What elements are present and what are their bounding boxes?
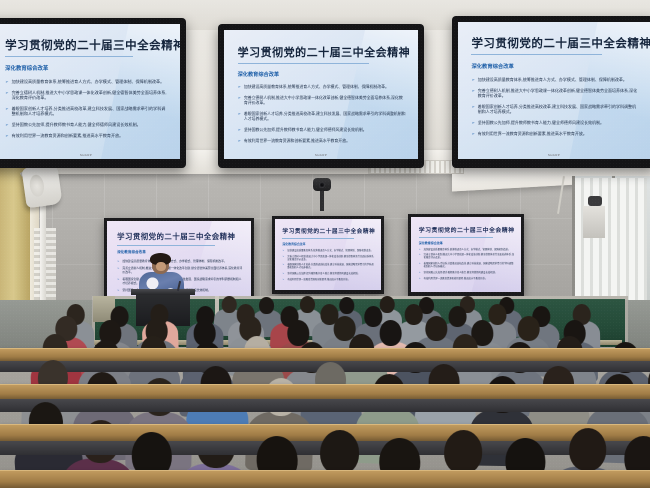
camera-mast [320, 191, 324, 211]
slide-bullet: ➢着眼国家创新人才培养,分类推进高校改革,建立科技发展、国家战略需求牵引的学科调… [5, 106, 169, 116]
slide-subtitle: 深化教育综合改革 [282, 242, 374, 246]
bullet-marker-icon: ➢ [471, 120, 474, 125]
slide-bullet: ➢着眼国家创新人才培养,分类推进高校改革,建立科技发展、国家战略需求牵引的学科调… [238, 111, 407, 121]
slide-title-rule [282, 238, 354, 239]
slide-content: 学习贯彻党的二十届三中全会精神 深化教育综合改革 ➢加快建设高质量教育体系,统筹… [0, 24, 180, 159]
bullet-marker-icon: ➢ [282, 279, 284, 282]
audience-member-head [568, 427, 607, 472]
podium-top [131, 289, 195, 295]
slide-bullet-list: ➢加快建设高质量教育体系,统筹推进育人方式、办学模式、管理体制、保障机制改革。 … [5, 79, 169, 139]
slide-bullet-text: 有效利用世界一流教育资源和创新要素,推进高水平教育开放。 [424, 278, 488, 281]
slide-bullet: ➢完善立德树人机制,推进大中小学思政课一体化改革创新,健全德智体美劳全面培养体系… [419, 254, 515, 260]
bullet-marker-icon: ➢ [471, 104, 474, 114]
bullet-marker-icon: ➢ [5, 90, 8, 100]
slide-bullet-text: 着眼国家创新人才培养,分类推进高校改革,建立科技发展、国家战略需求牵引的学科调整… [478, 104, 639, 114]
slide-bullet: ➢完善立德树人机制,推进大中小学思政课一体化改革创新,健全德智体美劳全面培养体系… [117, 267, 242, 274]
wall-display-left-panel: 学习贯彻党的二十届三中全会精神 深化教育综合改革 ➢加快建设高质量教育体系,统筹… [0, 24, 180, 159]
projection-screen-right-surface: 学习贯彻党的二十届三中全会精神 深化教育综合改革 ➢加快建设高质量教育体系,统筹… [411, 217, 521, 292]
bullet-marker-icon: ➢ [419, 272, 421, 275]
slide-content: 学习贯彻党的二十届三中全会精神 深化教育综合改革 ➢加快建设高质量教育体系,统筹… [275, 219, 381, 290]
slide-bullet: ➢着眼国家创新人才培养,分类推进高校改革,建立科技发展、国家战略需求牵引的学科调… [419, 263, 515, 269]
slide-bullet: ➢坚持国教公先加师,提升教师教书育人能力,健全师德师风建设长效机制。 [282, 273, 374, 276]
bullet-marker-icon: ➢ [5, 79, 8, 84]
slide-bullet: ➢有效利用世界一流教育资源和创新要素,推进高水平教育开放。 [282, 279, 374, 282]
presenter-face [156, 262, 166, 271]
slide-bullet-text: 着眼国家创新人才培养,分类推进高校改革,建立科技发展、国家战略需求牵引的学科调整… [244, 111, 407, 121]
lecture-desk-row [0, 384, 650, 400]
slide-bullet: ➢有效利用世界一流教育资源和创新要素,推进高水平教育开放。 [471, 131, 638, 136]
slide-bullet: ➢坚持国教公先加师,提升教师教书育人能力,健全师德师风建设长效机制。 [419, 272, 515, 275]
slide-bullet-text: 着眼国家创新人才培养,分类推进高校改革,建立科技发展、国家战略需求牵引的学科调整… [424, 263, 515, 269]
bullet-marker-icon: ➢ [282, 273, 284, 276]
desk-front-panel [0, 399, 650, 412]
slide-title-rule [238, 63, 370, 64]
slide-bullet-text: 加快建设高质量教育体系,统筹推进育人方式、办学模式、管理体制、保障机制改革。 [287, 250, 373, 253]
slide-bullet-text: 坚持国教公先加师,提升教师教书育人能力,健全师德师风建设长效机制。 [424, 272, 497, 275]
slide-bullet-text: 完善立德树人机制,推进大中小学思政课一体化改革创新,健全德智体美劳全面培养体系,… [478, 88, 639, 98]
lecture-desk-row [0, 348, 650, 362]
speaker-cone-icon [28, 174, 45, 198]
bullet-marker-icon: ➢ [117, 278, 119, 285]
bullet-marker-icon: ➢ [471, 77, 474, 82]
slide-bullet-text: 完善立德树人机制,推进大中小学思政课一体化改革创新,健全德智体美劳全面培养体系,… [244, 95, 407, 105]
slide-bullet-text: 加快建设高质量教育体系,统筹推进育人方式、办学模式、管理体制、保障机制改革。 [244, 84, 389, 89]
slide-subtitle: 深化教育综合改革 [471, 62, 638, 70]
slide-bullet-text: 有效利用世界一流教育资源和创新要素,推进高水平教育开放。 [287, 279, 350, 282]
slide-bullet: ➢坚持国教公先加师,提升教师教书育人能力,健全师德师风建设长效机制。 [471, 120, 638, 125]
slide-bullet-text: 完善立德树人机制,推进大中小学思政课一体化改革创新,健全德智体美劳全面培养体系,… [122, 267, 242, 274]
slide-bullet: ➢加快建设高质量教育体系,统筹推进育人方式、办学模式、管理体制、保障机制改革。 [117, 260, 242, 264]
slide-bullet-list: ➢加快建设高质量教育体系,统筹推进育人方式、办学模式、管理体制、保障机制改革。 … [282, 250, 374, 282]
projection-screen-center[interactable]: 学习贯彻党的二十届三中全会精神 深化教育综合改革 ➢加快建设高质量教育体系,统筹… [272, 216, 384, 294]
slide-bullet-text: 加快建设高质量教育体系,统筹推进育人方式、办学模式、管理体制、保障机制改革。 [12, 79, 165, 84]
wall-display-right-panel: 学习贯彻党的二十届三中全会精神 深化教育综合改革 ➢加快建设高质量教育体系,统筹… [458, 22, 650, 159]
wall-display-left[interactable]: 学习贯彻党的二十届三中全会精神 深化教育综合改革 ➢加快建设高质量教育体系,统筹… [0, 18, 186, 168]
bullet-marker-icon: ➢ [5, 122, 8, 127]
slide-title: 学习贯彻党的二十届三中全会精神 [419, 225, 515, 234]
display-brand-label: SHARP [548, 153, 560, 157]
slide-bullet-text: 完善立德树人机制,推进大中小学思政课一体化改革创新,健全德智体美劳全面培养体系,… [424, 254, 515, 260]
slide-bullet: ➢完善立德树人机制,推进大中小学思政课一体化改革创新,健全德智体美劳全面培养体系… [282, 256, 374, 262]
slide-bullet: ➢着眼国家创新人才培养,分类推进高校改革,建立科技发展、国家战略需求牵引的学科调… [282, 264, 374, 270]
side-camera-housing [583, 206, 605, 238]
bullet-marker-icon: ➢ [117, 267, 119, 274]
slide-title-rule [419, 237, 494, 238]
slide-bullet: ➢加快建设高质量教育体系,统筹推进育人方式、办学模式、管理体制、保障机制改革。 [5, 79, 169, 84]
slide-bullet-text: 完善立德树人机制,推进大中小学思政课一体化改革创新,健全德智体美劳全面培养体系,… [12, 90, 169, 100]
audience-member-head [443, 429, 483, 474]
bullet-marker-icon: ➢ [238, 111, 241, 121]
lecture-hall-photo: 学习贯彻党的二十届三中全会精神 深化教育综合改革 ➢加快建设高质量教育体系,统筹… [0, 0, 650, 488]
slide-bullet-list: ➢加快建设高质量教育体系,统筹推进育人方式、办学模式、管理体制、保障机制改革。 … [238, 84, 407, 143]
slide-title: 学习贯彻党的二十届三中全会精神 [282, 226, 374, 235]
slide-bullet-text: 着眼国家创新人才培养,分类推进高校改革,建立科技发展、国家战略需求牵引的学科调整… [12, 106, 169, 116]
bullet-marker-icon: ➢ [117, 260, 119, 264]
slide-subtitle: 深化教育综合改革 [419, 241, 515, 245]
slide-bullet-text: 着眼国家创新人才培养,分类推进高校改革,建立科技发展、国家战略需求牵引的学科调整… [287, 264, 374, 270]
slide-title-rule [117, 245, 215, 246]
slide-bullet-list: ➢加快建设高质量教育体系,统筹推进育人方式、办学模式、管理体制、保障机制改革。 … [471, 77, 638, 136]
lecture-desk-row [0, 470, 650, 488]
slide-title-rule [5, 56, 133, 57]
slide-bullet: ➢完善立德树人机制,推进大中小学思政课一体化改革创新,健全德智体美劳全面培养体系… [471, 88, 638, 98]
display-brand-label: SHARP [80, 153, 92, 157]
projection-screen-center-surface: 学习贯彻党的二十届三中全会精神 深化教育综合改革 ➢加快建设高质量教育体系,统筹… [275, 219, 381, 290]
bullet-marker-icon: ➢ [5, 133, 8, 138]
slide-title: 学习贯彻党的二十届三中全会精神 [117, 231, 242, 242]
wall-display-right[interactable]: 学习贯彻党的二十届三中全会精神 深化教育综合改革 ➢加快建设高质量教育体系,统筹… [452, 16, 650, 168]
slide-bullet: ➢有效利用世界一流教育资源和创新要素,推进高水平教育开放。 [238, 138, 407, 143]
bullet-marker-icon: ➢ [419, 263, 421, 269]
side-camera [588, 196, 602, 206]
wall-display-center[interactable]: 学习贯彻党的二十届三中全会精神 深化教育综合改革 ➢加快建设高质量教育体系,统筹… [218, 24, 424, 168]
bullet-marker-icon: ➢ [419, 278, 421, 281]
slide-bullet: ➢有效利用世界一流教育资源和创新要素,推进高水平教育开放。 [419, 278, 515, 281]
slide-bullet: ➢加快建设高质量教育体系,统筹推进育人方式、办学模式、管理体制、保障机制改革。 [471, 77, 638, 82]
wall-speaker [21, 164, 62, 209]
bullet-marker-icon: ➢ [282, 256, 284, 262]
slide-content: 学习贯彻党的二十届三中全会精神 深化教育综合改革 ➢加快建设高质量教育体系,统筹… [224, 30, 418, 159]
slide-content: 学习贯彻党的二十届三中全会精神 深化教育综合改革 ➢加快建设高质量教育体系,统筹… [458, 22, 650, 159]
bullet-marker-icon: ➢ [238, 127, 241, 132]
slide-bullet: ➢有效利用世界一流教育资源和创新要素,推进高水平教育开放。 [5, 133, 169, 138]
bullet-marker-icon: ➢ [5, 106, 8, 116]
bullet-marker-icon: ➢ [238, 138, 241, 143]
slide-bullet: ➢完善立德树人机制,推进大中小学思政课一体化改革创新,健全德智体美劳全面培养体系… [238, 95, 407, 105]
bullet-marker-icon: ➢ [117, 289, 119, 293]
slide-content: 学习贯彻党的二十届三中全会精神 深化教育综合改革 ➢加快建设高质量教育体系,统筹… [411, 217, 521, 292]
slide-bullet: ➢坚持国教公先加师,提升教师教书育人能力,健全师德师风建设长效机制。 [238, 127, 407, 132]
slide-subtitle: 深化教育综合改革 [5, 64, 169, 72]
audience-member-head [517, 316, 540, 342]
slide-subtitle: 深化教育综合改革 [238, 71, 407, 78]
slide-bullet-text: 坚持国教公先加师,提升教师教书育人能力,健全师德师风建设长效机制。 [12, 122, 141, 127]
slide-title-rule [471, 54, 601, 55]
slide-bullet-list: ➢加快建设高质量教育体系,统筹推进育人方式、办学模式、管理体制、保障机制改革。 … [419, 249, 515, 281]
window-blinds[interactable] [575, 178, 647, 302]
bullet-marker-icon: ➢ [471, 88, 474, 98]
slide-bullet: ➢坚持国教公先加师,提升教师教书育人能力,健全师德师风建设长效机制。 [5, 122, 169, 127]
bullet-marker-icon: ➢ [419, 254, 421, 260]
audience-member-head [320, 430, 360, 476]
slide-bullet-text: 坚持国教公先加师,提升教师教书育人能力,健全师德师风建设长效机制。 [244, 127, 367, 132]
slide-bullet-text: 有效利用世界一流教育资源和创新要素,推进高水平教育开放。 [244, 138, 350, 143]
camera-lens-icon [319, 182, 325, 188]
ceiling-camera [313, 178, 331, 191]
slide-bullet-text: 坚持国教公先加师,提升教师教书育人能力,健全师德师风建设长效机制。 [478, 120, 604, 125]
projection-screen-right[interactable]: 学习贯彻党的二十届三中全会精神 深化教育综合改革 ➢加快建设高质量教育体系,统筹… [408, 214, 524, 296]
bullet-marker-icon: ➢ [282, 264, 284, 270]
bullet-marker-icon: ➢ [282, 250, 284, 253]
slide-bullet-text: 完善立德树人机制,推进大中小学思政课一体化改革创新,健全德智体美劳全面培养体系,… [287, 256, 374, 262]
slide-title: 学习贯彻党的二十届三中全会精神 [5, 37, 169, 53]
bullet-marker-icon: ➢ [419, 249, 421, 252]
slide-bullet: ➢着眼国家创新人才培养,分类推进高校改革,建立科技发展、国家战略需求牵引的学科调… [471, 104, 638, 114]
slide-bullet-text: 加快建设高质量教育体系,统筹推进育人方式、办学模式、管理体制、保障机制改革。 [122, 260, 226, 264]
slide-bullet: ➢加快建设高质量教育体系,统筹推进育人方式、办学模式、管理体制、保障机制改革。 [238, 84, 407, 89]
slide-bullet-text: 加快建设高质量教育体系,统筹推进育人方式、办学模式、管理体制、保障机制改革。 [478, 77, 627, 82]
bullet-marker-icon: ➢ [238, 95, 241, 105]
bullet-marker-icon: ➢ [471, 131, 474, 136]
slide-bullet-text: 有效利用世界一流教育资源和创新要素,推进高水平教育开放。 [12, 133, 124, 138]
slide-bullet-text: 有效利用世界一流教育资源和创新要素,推进高水平教育开放。 [478, 131, 587, 136]
slide-bullet: ➢加快建设高质量教育体系,统筹推进育人方式、办学模式、管理体制、保障机制改革。 [282, 250, 374, 253]
slide-bullet-text: 加快建设高质量教育体系,统筹推进育人方式、办学模式、管理体制、保障机制改革。 [424, 249, 511, 252]
slide-subtitle: 深化教育综合改革 [117, 250, 242, 255]
display-brand-label: SHARP [315, 153, 327, 157]
slide-bullet: ➢加快建设高质量教育体系,统筹推进育人方式、办学模式、管理体制、保障机制改革。 [419, 249, 515, 252]
slide-bullet: ➢完善立德树人机制,推进大中小学思政课一体化改革创新,健全德智体美劳全面培养体系… [5, 90, 169, 100]
slide-bullet-text: 坚持国教公先加师,提升教师教书育人能力,健全师德师风建设长效机制。 [287, 273, 359, 276]
wall-display-center-panel: 学习贯彻党的二十届三中全会精神 深化教育综合改革 ➢加快建设高质量教育体系,统筹… [224, 30, 418, 159]
bullet-marker-icon: ➢ [238, 84, 241, 89]
slide-title: 学习贯彻党的二十届三中全会精神 [471, 35, 638, 51]
slide-title: 学习贯彻党的二十届三中全会精神 [238, 44, 407, 60]
